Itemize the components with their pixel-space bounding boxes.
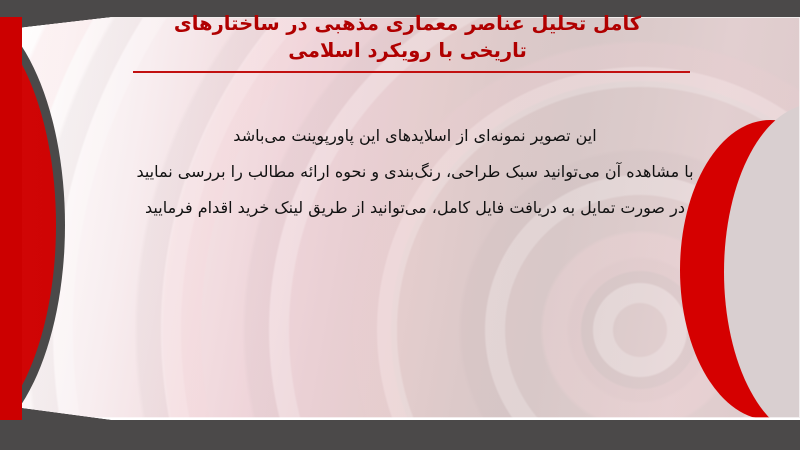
slide-body-text: این تصویر نمونه‌ای از اسلایدهای این پاور…: [120, 118, 710, 226]
body-line-1: این تصویر نمونه‌ای از اسلایدهای این پاور…: [120, 118, 710, 154]
left-strip-bottom-cap: [0, 420, 22, 450]
body-line-3: در صورت تمایل به دریافت فایل کامل، می‌تو…: [120, 190, 710, 226]
presentation-slide: کامل تحلیل عناصر معماری مذهبی در ساختاره…: [0, 0, 800, 450]
slide-title-line-2: تاریخی با رویکرد اسلامی: [120, 37, 695, 64]
left-strip-top-cap: [0, 0, 22, 17]
slide-title-line-1: کامل تحلیل عناصر معماری مذهبی در ساختاره…: [120, 10, 695, 37]
title-underline-rule: [133, 71, 690, 73]
body-line-2: با مشاهده آن می‌توانید سبک طراحی، رنگ‌بن…: [120, 154, 710, 190]
left-red-edge-strip: [0, 0, 22, 450]
slide-title: کامل تحلیل عناصر معماری مذهبی در ساختاره…: [120, 10, 695, 64]
bottom-dark-band: [0, 420, 800, 450]
